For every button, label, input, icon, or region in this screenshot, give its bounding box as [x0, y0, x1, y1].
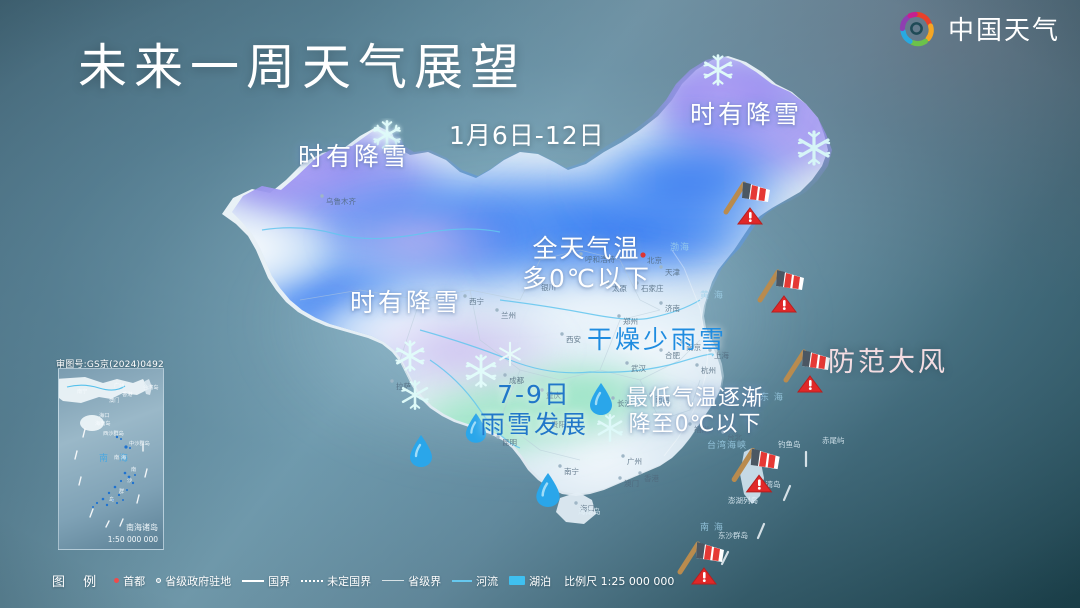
- inset-map-scale: 1:50 000 000: [108, 535, 158, 544]
- annotation-dry-little-precip: 干燥少雨雪: [587, 325, 727, 355]
- annotation-line-1: 最低气温逐渐: [626, 386, 764, 412]
- date-range: 1月6日-12日: [449, 116, 605, 152]
- solid-line-icon: [242, 580, 264, 582]
- weather-map-infographic: 乌鲁木齐拉萨西宁兰州银川呼和浩特北京天津石家庄太原济南郑州西安成都重庆武汉合肥南…: [0, 0, 1080, 608]
- inset-label: 香港: [122, 390, 133, 398]
- inset-label: 海南岛: [95, 419, 111, 427]
- legend-title: 图 例: [52, 571, 103, 590]
- legend-label: 省级界: [408, 573, 441, 589]
- legend-label: 未定国界: [327, 573, 371, 589]
- legend-label: 河流: [476, 573, 498, 589]
- annotation-line-2: 降至0℃以下: [626, 412, 764, 438]
- brand-name: 中国天气: [948, 10, 1060, 47]
- south-china-sea-inset-map: 南 海 南宁广州香港澳门台湾岛海口海南岛西沙群岛中沙群岛南 海南沙群岛 南海诸岛…: [58, 368, 164, 550]
- annotation-rain-snow-development: 7-9日 雨雪发展: [480, 380, 588, 439]
- inset-label: 南: [131, 465, 136, 473]
- annotation-all-day-temperature: 全天气温 多0℃以下: [522, 234, 651, 293]
- province-line-icon: [382, 580, 404, 582]
- legend-scale: 比例尺 1:25 000 000: [564, 573, 674, 589]
- province-seat-dot-icon: [156, 578, 161, 583]
- annotation-northeast-snow: 时有降雪: [690, 100, 802, 130]
- legend-item-province-border: 省级界: [382, 573, 441, 589]
- annotation-line-2: 雨雪发展: [480, 410, 588, 440]
- page-title: 未来一周天气展望: [78, 28, 526, 99]
- inset-label: 台湾岛: [143, 383, 159, 391]
- legend-item-river: 河流: [452, 573, 498, 589]
- legend-label: 首都: [123, 573, 145, 589]
- river-line-icon: [452, 580, 472, 582]
- inset-map-name: 南海诸岛: [126, 522, 158, 533]
- legend: 图 例 首都 省级政府驻地 国界 未定国界 省级界 河流 湖泊 比例尺: [52, 571, 674, 590]
- lake-swatch-icon: [509, 576, 525, 585]
- annotation-line-1: 7-9日: [480, 380, 588, 410]
- legend-label: 省级政府驻地: [165, 573, 231, 589]
- annotation-line-2: 多0℃以下: [522, 264, 651, 294]
- inset-label: 岛: [109, 495, 114, 503]
- inset-label: 海口: [99, 411, 109, 419]
- inset-label: 广州: [114, 381, 124, 389]
- legend-item-capital: 首都: [114, 573, 145, 589]
- swirl-logo-icon: [896, 8, 937, 49]
- brand-logo: 中国天气: [896, 8, 1060, 49]
- inset-label: 西沙群岛: [103, 429, 124, 437]
- legend-label: 国界: [268, 573, 290, 589]
- legend-item-undefined-border: 未定国界: [301, 573, 371, 589]
- annotation-tibet-snow: 时有降雪: [350, 288, 462, 318]
- dotted-line-icon: [301, 580, 323, 582]
- inset-label: 群: [119, 487, 124, 495]
- capital-dot-icon: [114, 578, 119, 583]
- annotation-line-1: 全天气温: [522, 234, 651, 264]
- annotation-min-temperature: 最低气温逐渐 降至0℃以下: [626, 386, 764, 438]
- legend-item-lake: 湖泊: [509, 573, 551, 589]
- legend-label: 湖泊: [529, 573, 551, 589]
- legend-item-province-seat: 省级政府驻地: [156, 573, 231, 589]
- inset-label: 中沙群岛: [129, 439, 150, 447]
- annotation-wind-warning: 防范大风: [828, 347, 948, 379]
- inset-label: 沙: [127, 478, 132, 484]
- inset-label: 南宁: [77, 387, 87, 395]
- inset-label: 澳门: [109, 396, 119, 404]
- annotation-xinjiang-snow: 时有降雪: [298, 142, 410, 172]
- legend-item-national-border: 国界: [242, 573, 290, 589]
- inset-label: 南 海: [114, 453, 126, 461]
